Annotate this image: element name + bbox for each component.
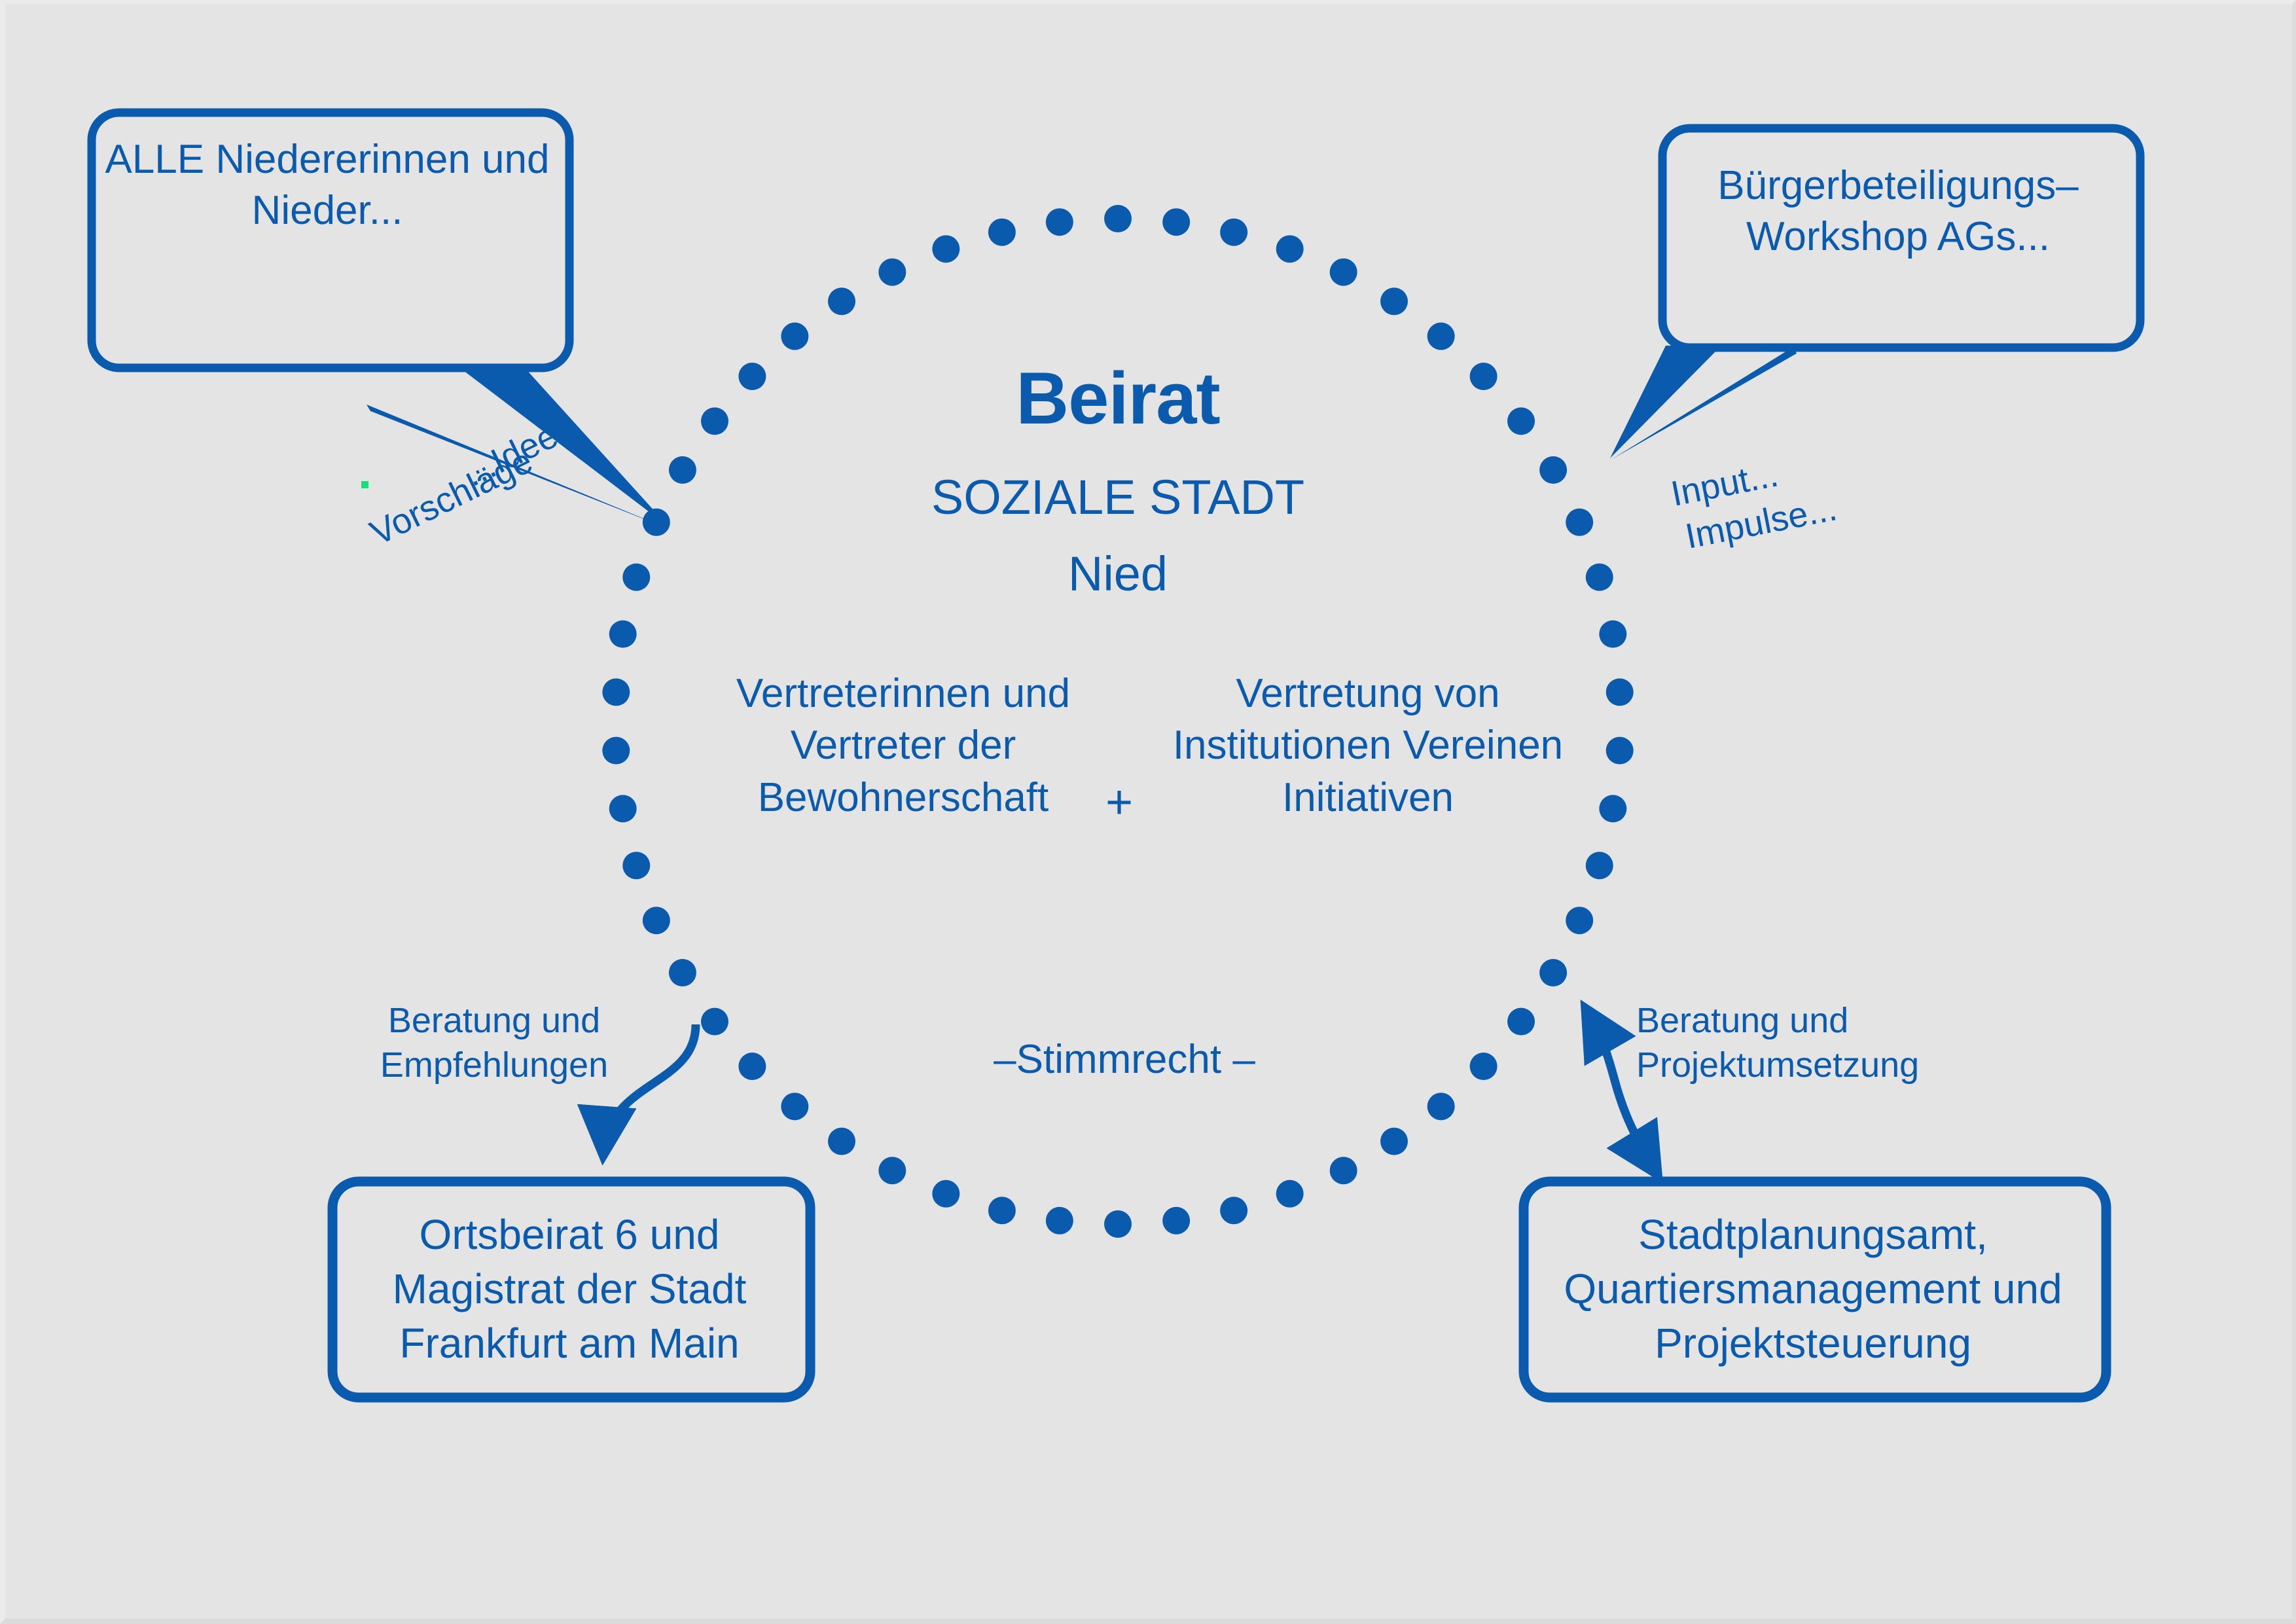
ring-dot bbox=[1104, 1210, 1132, 1238]
ring-dot bbox=[622, 564, 650, 591]
ring-dot bbox=[1046, 208, 1073, 236]
ring-dot bbox=[1104, 205, 1132, 232]
ring-dot bbox=[609, 621, 637, 648]
ring-dot bbox=[669, 456, 696, 484]
label-beratung-empfehlungen: Beratung und Empfehlungen bbox=[353, 998, 635, 1087]
ring-dot bbox=[1427, 323, 1455, 350]
ring-dot bbox=[828, 1128, 855, 1155]
ring-dot bbox=[781, 1092, 808, 1120]
column-bewohnerschaft: Vertreterinnen und Vertreter der Bewohne… bbox=[700, 668, 1106, 823]
ring-dot bbox=[1276, 235, 1304, 262]
stimmrecht-note: –Stimmrecht – bbox=[922, 1039, 1327, 1080]
ring-dot bbox=[781, 323, 808, 350]
ring-dot bbox=[622, 852, 650, 879]
ring-dot bbox=[1330, 259, 1357, 286]
ring-dot bbox=[1566, 509, 1593, 536]
ring-dot bbox=[878, 1157, 906, 1184]
ring-dot bbox=[1330, 1157, 1357, 1184]
plus-sign: + bbox=[1086, 779, 1152, 826]
page-title: Beirat bbox=[791, 362, 1445, 435]
ring-dot bbox=[602, 737, 630, 765]
diagram-canvas: ALLE Niedererinnen und Nieder... Bürgerb… bbox=[0, 0, 2296, 1624]
ring-dot bbox=[1599, 795, 1626, 822]
ring-dot bbox=[1046, 1207, 1073, 1235]
ring-dot bbox=[1380, 1128, 1408, 1155]
ring-dot bbox=[1507, 1008, 1535, 1036]
ring-dot bbox=[669, 959, 696, 986]
ring-dot bbox=[1470, 1053, 1498, 1080]
speech-bubble-top-right-text: Bürgerbeteiligungs– Workshop AGs... bbox=[1676, 160, 2121, 262]
ring-dot bbox=[988, 219, 1016, 246]
ring-dot bbox=[1586, 852, 1613, 879]
ring-dot bbox=[932, 1180, 960, 1208]
ring-dot bbox=[1220, 1197, 1247, 1224]
ring-dot bbox=[643, 907, 670, 934]
ring-dot bbox=[1380, 287, 1408, 315]
ring-dot bbox=[988, 1197, 1016, 1224]
subtitle-soziale-stadt: SOZIALE STADT bbox=[791, 473, 1445, 522]
ring-dot bbox=[738, 1053, 766, 1080]
ring-dot bbox=[878, 259, 906, 286]
ring-dot bbox=[1276, 1180, 1304, 1208]
ring-dot bbox=[1539, 456, 1567, 484]
ring-dot bbox=[738, 363, 766, 390]
box-ortsbeirat-text: Ortsbeirat 6 und Magistrat der Stadt Fra… bbox=[334, 1208, 805, 1371]
subtitle-nied: Nied bbox=[791, 550, 1445, 598]
ring-dot bbox=[1162, 1207, 1190, 1235]
ring-dot bbox=[609, 795, 637, 822]
ring-dot bbox=[643, 509, 670, 536]
ring-dot bbox=[1586, 564, 1613, 591]
ring-dot bbox=[1220, 219, 1247, 246]
column-institutionen: Vertretung von Institutionen Vereinen In… bbox=[1165, 668, 1571, 823]
ring-dot bbox=[1470, 363, 1498, 390]
ring-dot bbox=[1507, 407, 1535, 435]
label-beratung-projektumsetzung: Beratung und Projektumsetzung bbox=[1636, 998, 1964, 1087]
ring-dot bbox=[1606, 678, 1634, 706]
box-stadtplanungsamt-text: Stadtplanungsamt, Quartiersmanagement un… bbox=[1525, 1208, 2101, 1371]
speech-bubble-top-left-text: ALLE Niedererinnen und Nieder... bbox=[98, 134, 556, 236]
ring-dot bbox=[1539, 959, 1567, 986]
ring-dot bbox=[932, 235, 960, 262]
ring-dot bbox=[701, 407, 728, 435]
ring-dot bbox=[1606, 737, 1634, 765]
ring-dot bbox=[1427, 1092, 1455, 1120]
ring-dot bbox=[828, 287, 855, 315]
ring-dot bbox=[701, 1008, 728, 1036]
ring-dot bbox=[1162, 208, 1190, 236]
ring-dot bbox=[1566, 907, 1593, 934]
ring-dot bbox=[1599, 621, 1626, 648]
ring-dot bbox=[602, 678, 630, 706]
green-marker-dot bbox=[361, 481, 368, 488]
